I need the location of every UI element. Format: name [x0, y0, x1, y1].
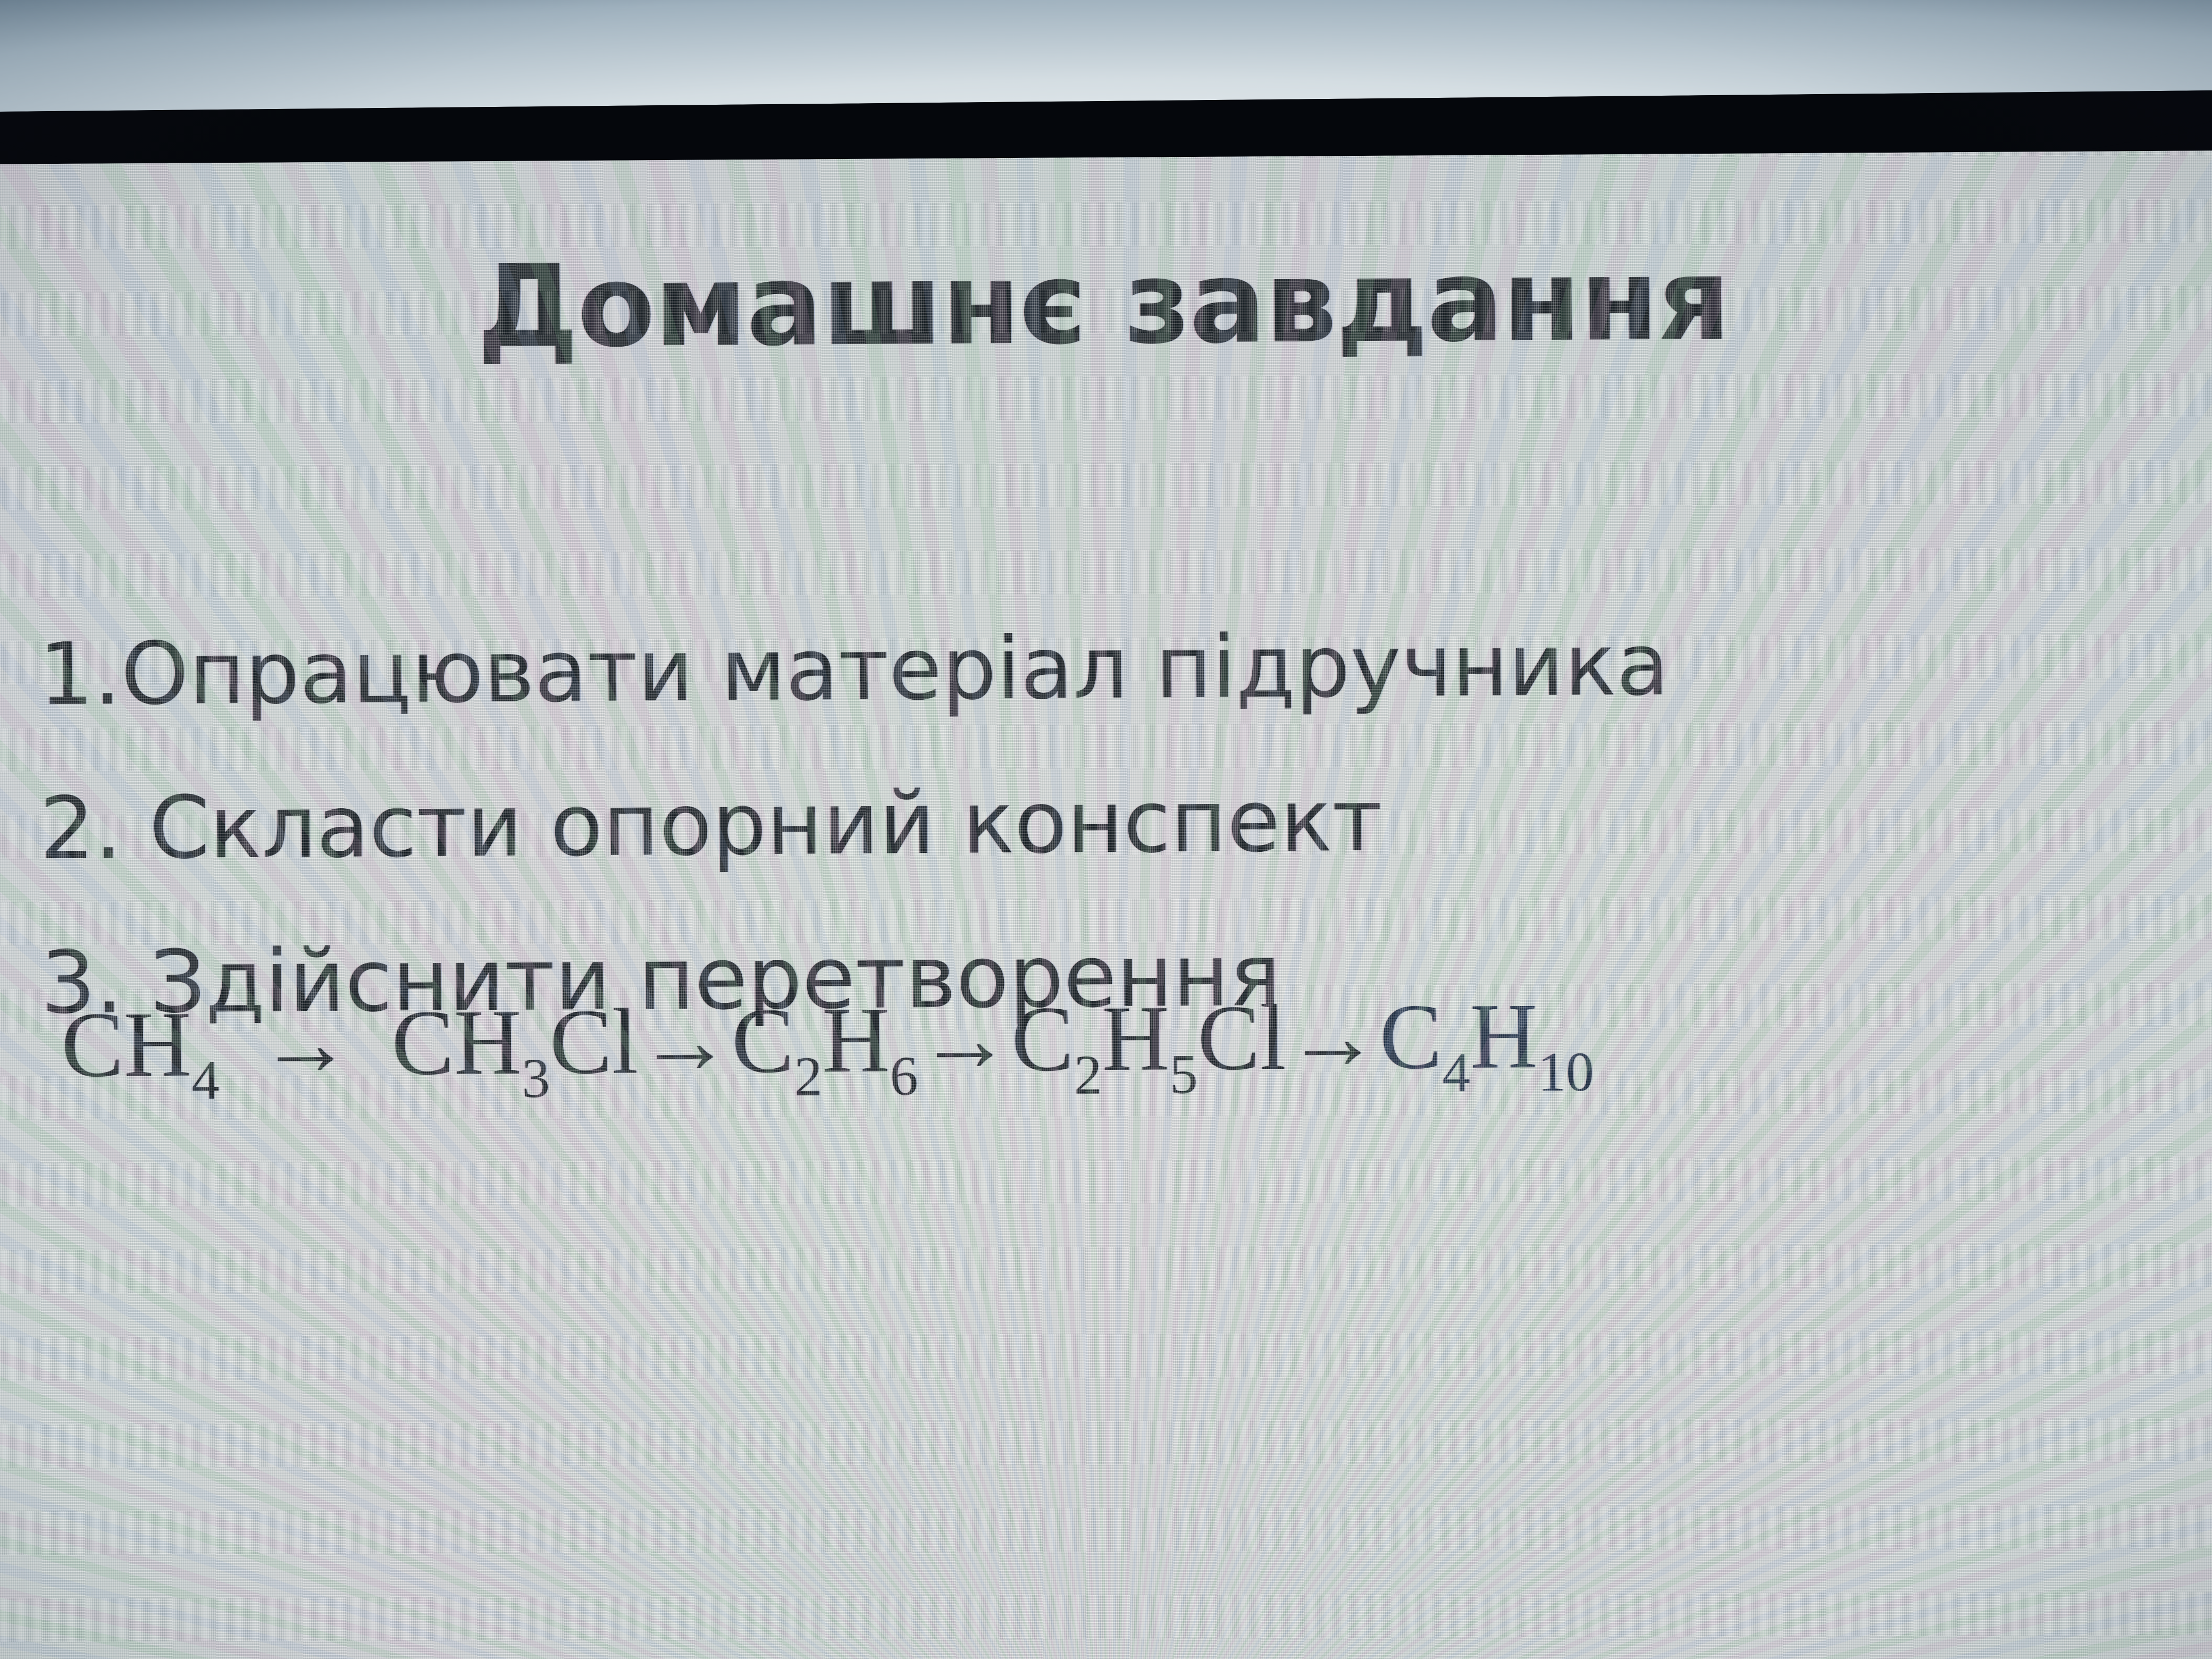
lcd-vertical-subpixel-overlay — [0, 150, 2212, 1659]
lcd-horizontal-scanline-overlay — [0, 150, 2212, 1659]
photographed-monitor-screenshot: Домашнє завдання 1.Опрацювати матеріал п… — [0, 0, 2212, 1659]
moire-artifact-layer — [0, 150, 2212, 1659]
moire-fan-overlay — [0, 150, 2212, 1659]
